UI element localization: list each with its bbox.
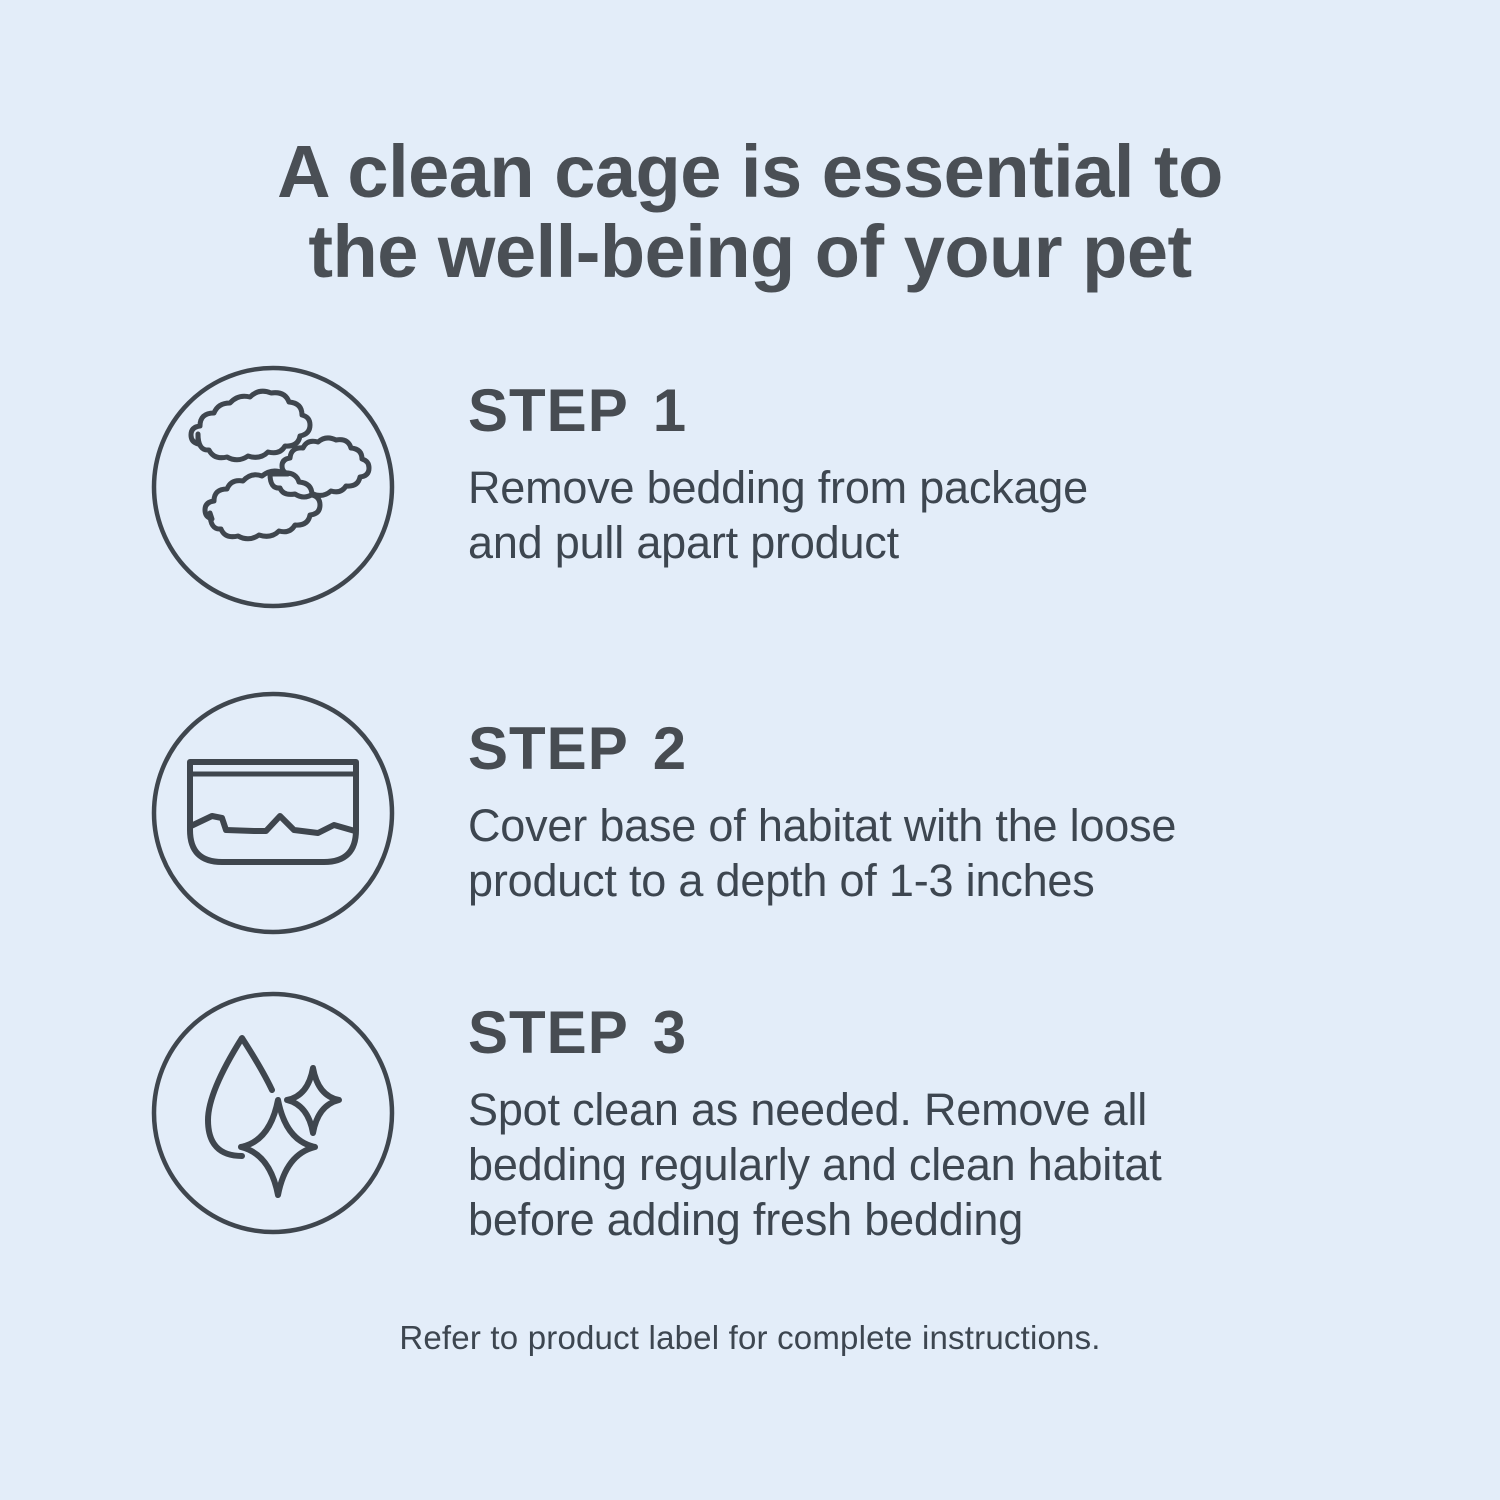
step-1-number: 1 [653, 377, 687, 444]
step-1-heading: STEP1 [468, 380, 1398, 442]
droplet-sparkle-icon [150, 990, 400, 1236]
bedding-clouds-icon [150, 360, 400, 610]
step-1-text: STEP1 Remove bedding from package and pu… [400, 360, 1398, 570]
infographic-page: A clean cage is essential to the well-be… [0, 0, 1500, 1500]
step-3-heading: STEP3 [468, 1002, 1398, 1064]
step-2-number: 2 [653, 715, 687, 782]
footer-note: Refer to product label for complete inst… [0, 1318, 1500, 1358]
step-item-1: STEP1 Remove bedding from package and pu… [0, 360, 1500, 690]
step-1-body: Remove bedding from package and pull apa… [468, 460, 1398, 570]
step-2-heading-label: STEP [468, 715, 629, 782]
habitat-tank-icon [150, 690, 400, 936]
step-2-text: STEP2 Cover base of habitat with the loo… [400, 690, 1398, 908]
step-3-number: 3 [653, 999, 687, 1066]
step-2-body: Cover base of habitat with the loose pro… [468, 798, 1398, 908]
steps-list: STEP1 Remove bedding from package and pu… [0, 360, 1500, 1280]
step-item-3: STEP3 Spot clean as needed. Remove all b… [0, 990, 1500, 1280]
page-title: A clean cage is essential to the well-be… [0, 132, 1500, 292]
step-3-body: Spot clean as needed. Remove all bedding… [468, 1082, 1398, 1247]
step-2-heading: STEP2 [468, 718, 1398, 780]
step-1-heading-label: STEP [468, 377, 629, 444]
step-item-2: STEP2 Cover base of habitat with the loo… [0, 690, 1500, 990]
step-3-text: STEP3 Spot clean as needed. Remove all b… [400, 990, 1398, 1247]
step-3-heading-label: STEP [468, 999, 629, 1066]
